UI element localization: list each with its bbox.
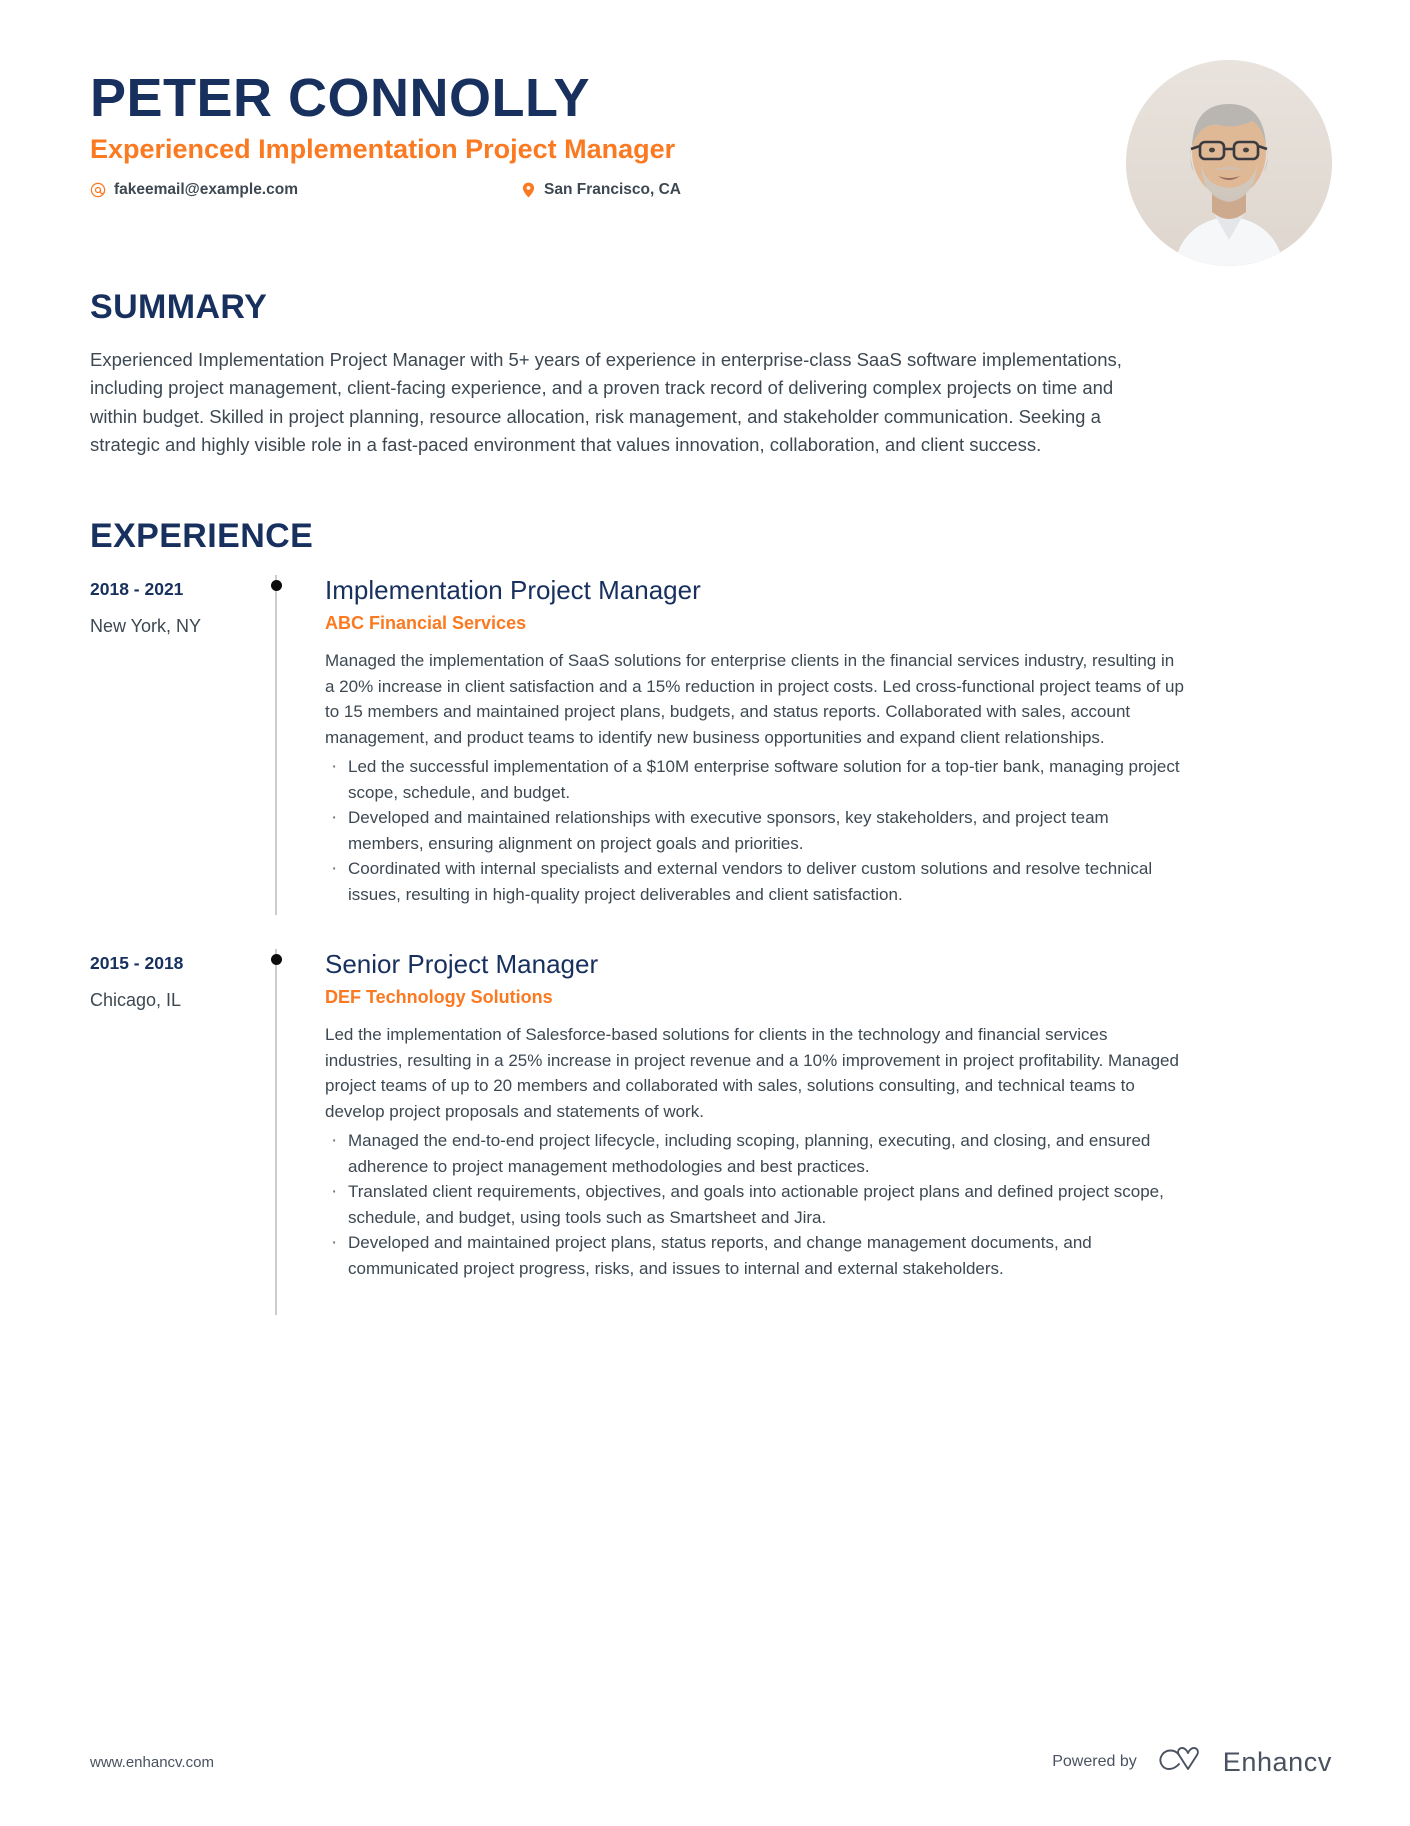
experience-bullet-list: Managed the end-to-end project lifecycle… bbox=[325, 1128, 1185, 1281]
experience-heading: EXPERIENCE bbox=[90, 519, 1332, 553]
enhancv-logo[interactable]: Enhancv bbox=[1157, 1746, 1332, 1778]
contact-email-text: fakeemail@example.com bbox=[114, 181, 298, 199]
experience-dates: 2018 - 2021 bbox=[90, 578, 265, 601]
experience-bullet-list: Led the successful implementation of a $… bbox=[325, 754, 1185, 907]
experience-meta: 2018 - 2021 New York, NY bbox=[90, 575, 265, 915]
contact-row: fakeemail@example.com San Francisco, CA bbox=[90, 181, 681, 199]
experience-dates: 2015 - 2018 bbox=[90, 952, 265, 975]
contact-email[interactable]: fakeemail@example.com bbox=[90, 181, 520, 199]
experience-body: Implementation Project Manager ABC Finan… bbox=[325, 575, 1185, 915]
list-item: Developed and maintained relationships w… bbox=[325, 805, 1185, 856]
summary-heading: SUMMARY bbox=[90, 290, 1332, 324]
map-pin-icon bbox=[520, 182, 536, 198]
resume-header: PETER CONNOLLY Experienced Implementatio… bbox=[0, 0, 1410, 290]
experience-body: Senior Project Manager DEF Technology So… bbox=[325, 949, 1185, 1315]
list-item: Led the successful implementation of a $… bbox=[325, 754, 1185, 805]
experience-entry: 2018 - 2021 New York, NY Implementation … bbox=[90, 575, 1332, 915]
timeline-line bbox=[275, 575, 277, 915]
page-title: PETER CONNOLLY bbox=[90, 70, 681, 127]
timeline-track bbox=[265, 949, 325, 1315]
list-item: Translated client requirements, objectiv… bbox=[325, 1179, 1185, 1230]
list-item: Developed and maintained project plans, … bbox=[325, 1230, 1185, 1281]
avatar bbox=[1126, 60, 1332, 266]
timeline-track bbox=[265, 575, 325, 915]
experience-role: Implementation Project Manager bbox=[325, 575, 1185, 607]
summary-text: Experienced Implementation Project Manag… bbox=[90, 346, 1155, 459]
contact-location-text: San Francisco, CA bbox=[544, 181, 681, 199]
experience-location: Chicago, IL bbox=[90, 989, 265, 1012]
at-sign-icon bbox=[90, 182, 106, 198]
summary-section: SUMMARY Experienced Implementation Proje… bbox=[0, 290, 1410, 459]
contact-location[interactable]: San Francisco, CA bbox=[520, 181, 681, 199]
experience-description: Managed the implementation of SaaS solut… bbox=[325, 648, 1185, 750]
experience-role: Senior Project Manager bbox=[325, 949, 1185, 981]
experience-location: New York, NY bbox=[90, 615, 265, 638]
enhancv-mark-icon bbox=[1157, 1746, 1211, 1778]
footer-url[interactable]: www.enhancv.com bbox=[90, 1754, 214, 1771]
page-footer: www.enhancv.com Powered by Enhancv bbox=[0, 1746, 1410, 1778]
resume-page: PETER CONNOLLY Experienced Implementatio… bbox=[0, 0, 1410, 1826]
enhancv-wordmark: Enhancv bbox=[1223, 1747, 1332, 1778]
timeline-line bbox=[275, 949, 277, 1315]
timeline-dot-icon bbox=[271, 580, 282, 591]
list-item: Managed the end-to-end project lifecycle… bbox=[325, 1128, 1185, 1179]
powered-by-label: Powered by bbox=[1052, 1753, 1137, 1771]
header-job-title: Experienced Implementation Project Manag… bbox=[90, 133, 681, 165]
header-text-block: PETER CONNOLLY Experienced Implementatio… bbox=[90, 60, 681, 199]
experience-meta: 2015 - 2018 Chicago, IL bbox=[90, 949, 265, 1315]
experience-company: DEF Technology Solutions bbox=[325, 986, 1185, 1009]
experience-section: EXPERIENCE 2018 - 2021 New York, NY Impl… bbox=[0, 519, 1410, 1315]
experience-company: ABC Financial Services bbox=[325, 612, 1185, 635]
footer-branding: Powered by Enhancv bbox=[1052, 1746, 1332, 1778]
experience-entry: 2015 - 2018 Chicago, IL Senior Project M… bbox=[90, 949, 1332, 1315]
experience-description: Led the implementation of Salesforce-bas… bbox=[325, 1022, 1185, 1124]
timeline-dot-icon bbox=[271, 954, 282, 965]
list-item: Coordinated with internal specialists an… bbox=[325, 856, 1185, 907]
